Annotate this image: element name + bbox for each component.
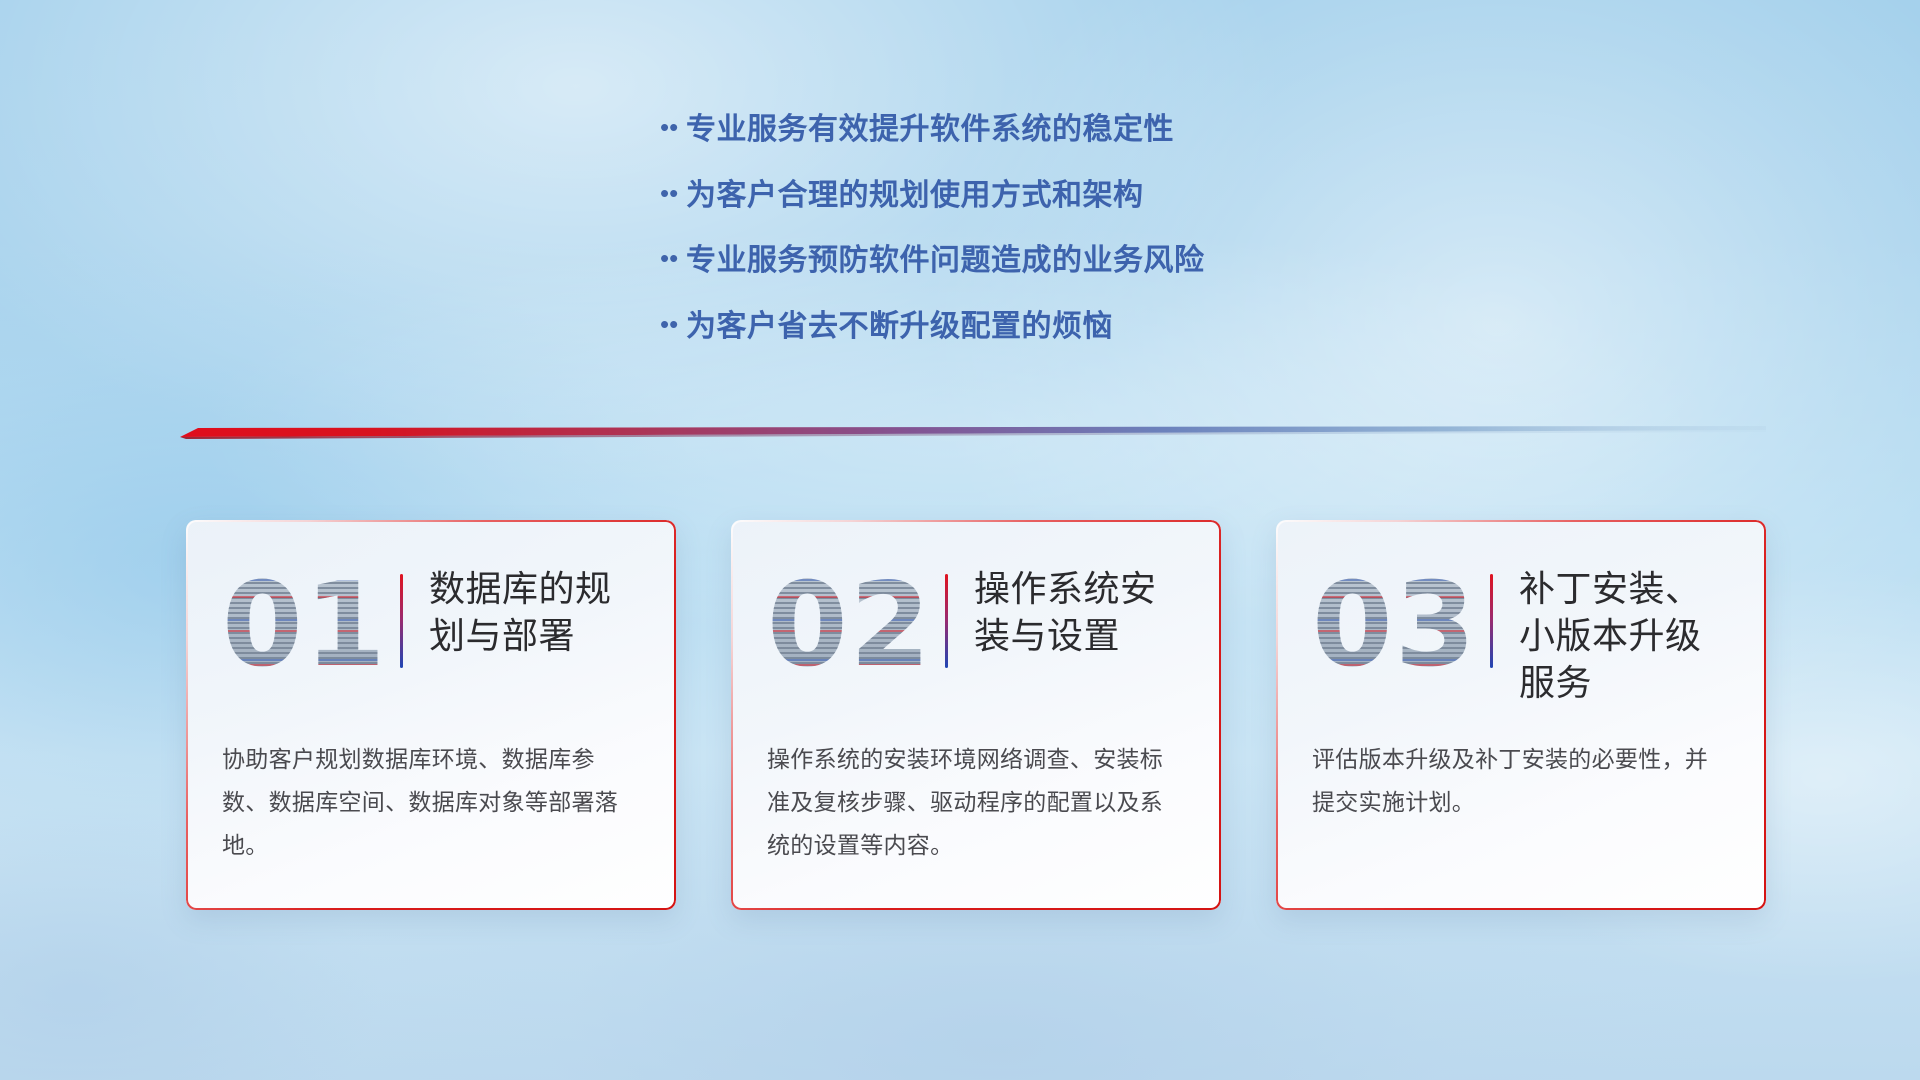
bullet-dot-icon: • xyxy=(660,311,686,337)
slide-canvas: • 专业服务有效提升软件系统的稳定性 • 为客户合理的规划使用方式和架构 • 专… xyxy=(0,0,1920,1080)
bullet-item-label: 为客户合理的规划使用方式和架构 xyxy=(686,178,1144,215)
service-card[interactable]: 01 01 数据库的规划与部署 协助客户规划数据库环境、数据库参数、数据库空间、… xyxy=(186,520,676,910)
card-title: 补丁安装、小版本升级服务 xyxy=(1519,558,1730,706)
card-title-rule xyxy=(400,574,403,668)
service-card[interactable]: 02 02 操作系统安装与设置 操作系统的安装环境网络调查、安装标准及复核步骤、… xyxy=(731,520,1221,910)
gradient-wedge-divider xyxy=(180,421,1766,443)
bullet-dot-icon: • xyxy=(660,180,686,206)
card-header: 02 02 操作系统安装与设置 xyxy=(767,558,1185,708)
card-number-tint-overlay: 02 xyxy=(767,562,945,690)
benefits-bullet-list: • 专业服务有效提升软件系统的稳定性 • 为客户合理的规划使用方式和架构 • 专… xyxy=(660,112,1420,374)
card-header: 03 03 补丁安装、小版本升级服务 xyxy=(1312,558,1730,708)
bullet-item: • 为客户合理的规划使用方式和架构 xyxy=(660,178,1420,215)
card-number-striped: 03 03 xyxy=(1312,562,1490,690)
bullet-item-label: 专业服务预防软件问题造成的业务风险 xyxy=(686,243,1205,280)
card-number-tint-overlay: 01 xyxy=(222,562,400,690)
card-description: 协助客户规划数据库环境、数据库参数、数据库空间、数据库对象等部署落地。 xyxy=(222,738,640,866)
card-title-rule xyxy=(945,574,948,668)
bullet-item-label: 专业服务有效提升软件系统的稳定性 xyxy=(686,112,1174,149)
bullet-dot-icon: • xyxy=(660,114,686,140)
bullet-item: • 专业服务预防软件问题造成的业务风险 xyxy=(660,243,1420,280)
card-number-tint-overlay: 03 xyxy=(1312,562,1490,690)
card-description: 操作系统的安装环境网络调查、安装标准及复核步骤、驱动程序的配置以及系统的设置等内… xyxy=(767,738,1185,866)
service-card-row: 01 01 数据库的规划与部署 协助客户规划数据库环境、数据库参数、数据库空间、… xyxy=(186,520,1766,910)
card-title: 数据库的规划与部署 xyxy=(429,558,640,660)
bullet-dot-icon: • xyxy=(660,245,686,271)
bullet-item: • 专业服务有效提升软件系统的稳定性 xyxy=(660,112,1420,149)
card-description: 评估版本升级及补丁安装的必要性，并提交实施计划。 xyxy=(1312,738,1730,824)
service-card[interactable]: 03 03 补丁安装、小版本升级服务 评估版本升级及补丁安装的必要性，并提交实施… xyxy=(1276,520,1766,910)
card-header: 01 01 数据库的规划与部署 xyxy=(222,558,640,708)
bullet-item-label: 为客户省去不断升级配置的烦恼 xyxy=(686,309,1113,346)
card-title-rule xyxy=(1490,574,1493,668)
bullet-item: • 为客户省去不断升级配置的烦恼 xyxy=(660,309,1420,346)
card-title: 操作系统安装与设置 xyxy=(974,558,1185,660)
card-number-striped: 02 02 xyxy=(767,562,945,690)
card-number-striped: 01 01 xyxy=(222,562,400,690)
